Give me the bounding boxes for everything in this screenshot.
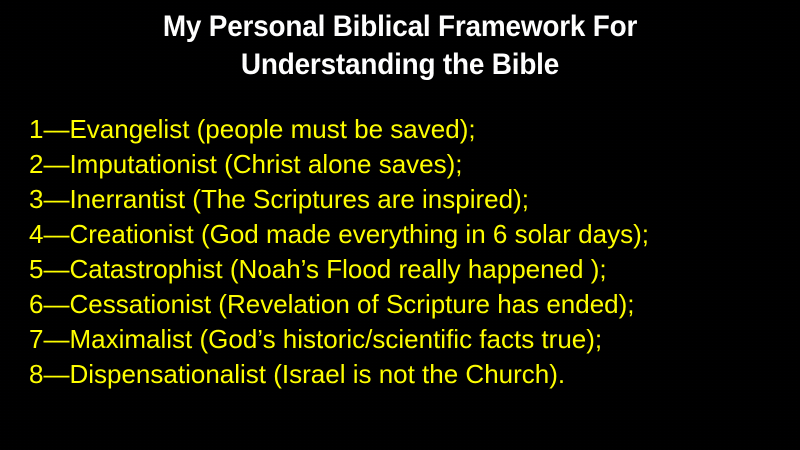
list-item: 1—Evangelist (people must be saved); [29,112,789,147]
list-item: 8—Dispensationalist (Israel is not the C… [29,357,789,392]
list-item: 5—Catastrophist (Noah’s Flood really hap… [29,252,789,287]
slide-title: My Personal Biblical Framework For Under… [50,8,750,84]
list-item: 3—Inerrantist (The Scriptures are inspir… [29,182,789,217]
list-item: 2—Imputationist (Christ alone saves); [29,147,789,182]
list-item: 6—Cessationist (Revelation of Scripture … [29,287,789,322]
list-item: 7—Maximalist (God’s historic/scientific … [29,322,789,357]
list-item: 4—Creationist (God made everything in 6 … [29,217,789,252]
slide-canvas: My Personal Biblical Framework For Under… [0,0,800,450]
framework-list: 1—Evangelist (people must be saved); 2—I… [29,112,789,392]
page-title: My Personal Biblical Framework For Under… [75,8,726,84]
